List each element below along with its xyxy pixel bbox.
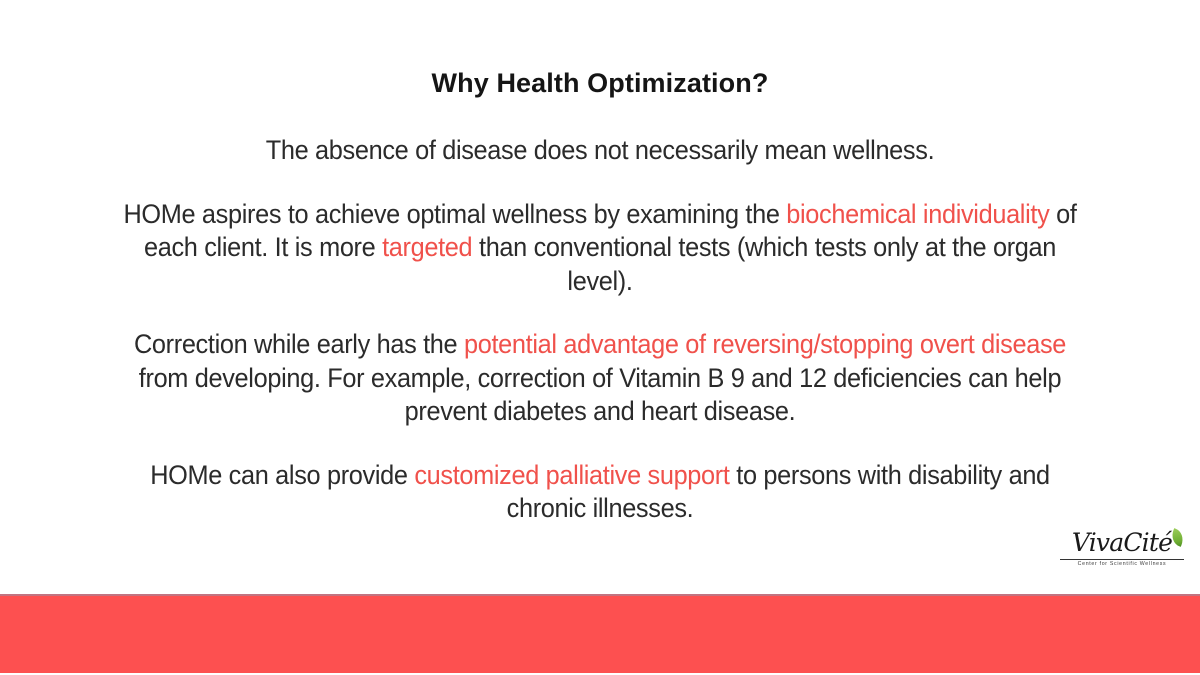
paragraph-2: HOMe aspires to achieve optimal wellness…	[123, 198, 1078, 299]
page-title: Why Health Optimization?	[0, 68, 1200, 99]
body-text: HOMe can also provide	[150, 460, 414, 490]
bottom-accent-bar	[0, 594, 1200, 673]
slide-canvas: Why Health Optimization? The absence of …	[0, 0, 1200, 675]
accent-text: potential advantage of reversing/stoppin…	[464, 329, 1066, 359]
accent-text: customized palliative support	[414, 460, 729, 490]
slide-body: The absence of disease does not necessar…	[100, 134, 1100, 526]
paragraph-4: HOMe can also provide customized palliat…	[123, 459, 1078, 526]
accent-text: targeted	[382, 232, 472, 262]
paragraph-3: Correction while early has the potential…	[123, 328, 1078, 429]
body-text: HOMe aspires to achieve optimal wellness…	[123, 199, 786, 229]
logo-wordmark: VivaCité	[1052, 528, 1192, 557]
vivacite-logo: VivaCité Center for Scientific Wellness	[1052, 528, 1192, 580]
body-text: Correction while early has the	[134, 329, 464, 359]
logo-divider	[1060, 559, 1184, 560]
logo-tagline: Center for Scientific Wellness	[1052, 561, 1192, 567]
body-text: from developing. For example, correction…	[139, 363, 1061, 427]
body-text: The absence of disease does not necessar…	[266, 135, 935, 165]
bottom-bar-hairline	[0, 594, 1200, 596]
paragraph-1: The absence of disease does not necessar…	[123, 134, 1078, 168]
body-text: than conventional tests (which tests onl…	[472, 232, 1056, 296]
accent-text: biochemical individuality	[786, 199, 1049, 229]
